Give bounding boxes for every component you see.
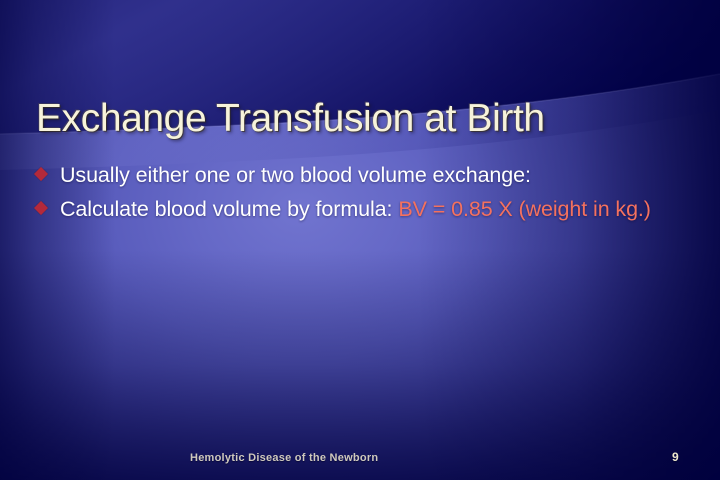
slide-number: 9: [672, 450, 679, 464]
background-swoosh-decoration: [0, 0, 720, 480]
slide-footer: Hemolytic Disease of the Newborn: [190, 452, 378, 464]
bullet-text-main: Calculate blood volume by formula:: [60, 197, 392, 221]
formula-accent-text: BV = 0.85 X (weight in kg.): [398, 197, 650, 221]
slide-title: Exchange Transfusion at Birth: [36, 96, 696, 142]
list-item: Usually either one or two blood volume e…: [36, 160, 692, 190]
diamond-bullet-icon: [34, 167, 48, 181]
list-item: Calculate blood volume by formula:BV = 0…: [36, 194, 692, 224]
slide-body: Usually either one or two blood volume e…: [36, 160, 692, 228]
bullet-text: Calculate blood volume by formula:BV = 0…: [60, 194, 692, 224]
presentation-slide: Exchange Transfusion at Birth Usually ei…: [0, 0, 720, 480]
diamond-bullet-icon: [34, 201, 48, 215]
bullet-text: Usually either one or two blood volume e…: [60, 160, 692, 190]
